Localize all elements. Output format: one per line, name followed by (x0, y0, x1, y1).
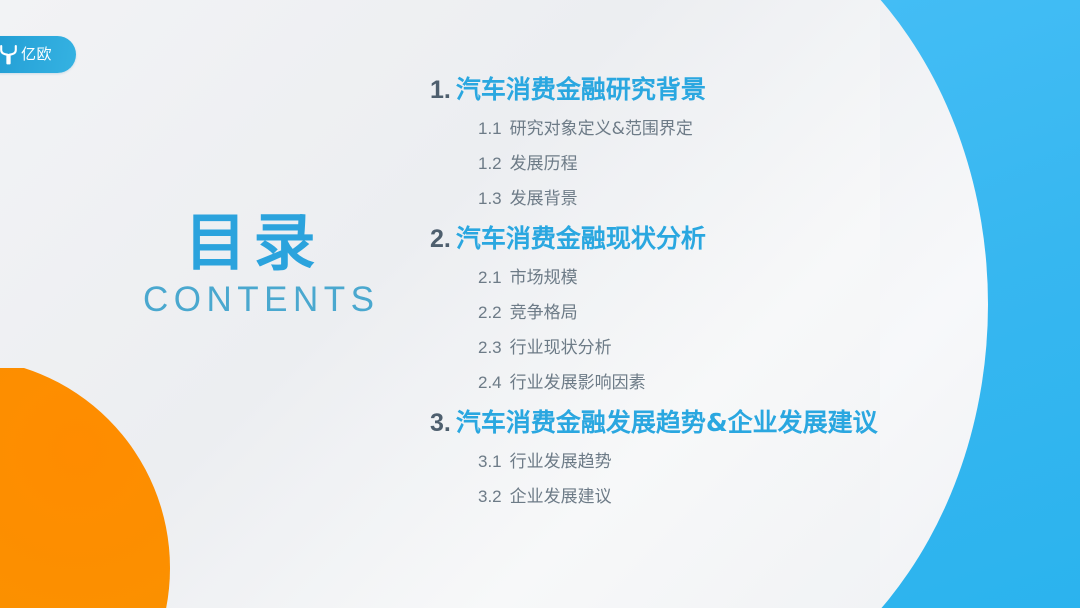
toc-subitem[interactable]: 3.1 行业发展趋势 (478, 445, 970, 480)
toc-section-title: 汽车消费金融现状分析 (456, 226, 706, 251)
yiou-antler-icon (0, 44, 18, 65)
table-of-contents: 1. 汽车消费金融研究背景 1.1 研究对象定义&范围界定 1.2 发展历程 1… (430, 70, 970, 517)
toc-section-heading[interactable]: 3. 汽车消费金融发展趋势&企业发展建议 (430, 403, 970, 445)
toc-subitem[interactable]: 2.1 市场规模 (478, 261, 970, 296)
toc-subitem-number: 2.2 (478, 304, 502, 321)
toc-section: 2. 汽车消费金融现状分析 2.1 市场规模 2.2 竞争格局 2.3 行业现状… (430, 219, 970, 401)
toc-subitem-label: 市场规模 (510, 270, 578, 287)
page-title-en: CONTENTS (138, 282, 362, 319)
toc-subitem-list: 3.1 行业发展趋势 3.2 企业发展建议 (430, 445, 970, 515)
brand-logo: 亿欧 (0, 36, 76, 73)
page-title-block: 目录 CONTENTS (138, 212, 362, 319)
toc-section-number: 2. (430, 227, 451, 252)
toc-subitem-list: 2.1 市场规模 2.2 竞争格局 2.3 行业现状分析 2.4 行业发展影响因… (430, 261, 970, 401)
toc-section: 3. 汽车消费金融发展趋势&企业发展建议 3.1 行业发展趋势 3.2 企业发展… (430, 403, 970, 515)
toc-subitem-number: 2.1 (478, 269, 502, 286)
toc-subitem-label: 发展背景 (510, 191, 578, 208)
toc-subitem-number: 1.3 (478, 190, 502, 207)
decorative-orange-arc (0, 368, 220, 608)
contents-slide: 亿欧 目录 CONTENTS 1. 汽车消费金融研究背景 1.1 研究对象定义&… (0, 0, 1080, 608)
toc-subitem-number: 3.2 (478, 488, 502, 505)
toc-subitem-number: 1.1 (478, 120, 502, 137)
toc-subitem[interactable]: 2.4 行业发展影响因素 (478, 366, 970, 401)
toc-section-title: 汽车消费金融研究背景 (456, 77, 706, 102)
decorative-orange-fill (0, 368, 170, 608)
toc-section-number: 1. (430, 78, 451, 103)
brand-logo-text: 亿欧 (21, 47, 52, 62)
toc-section-heading[interactable]: 2. 汽车消费金融现状分析 (430, 219, 970, 261)
toc-subitem[interactable]: 1.1 研究对象定义&范围界定 (478, 112, 970, 147)
toc-subitem-label: 企业发展建议 (510, 489, 612, 506)
page-title-cn: 目录 (138, 212, 362, 274)
toc-section-title: 汽车消费金融发展趋势&企业发展建议 (456, 410, 878, 435)
toc-section: 1. 汽车消费金融研究背景 1.1 研究对象定义&范围界定 1.2 发展历程 1… (430, 70, 970, 217)
toc-subitem-number: 1.2 (478, 155, 502, 172)
toc-subitem-label: 竞争格局 (510, 305, 578, 322)
toc-section-number: 3. (430, 411, 451, 436)
toc-subitem-label: 行业现状分析 (510, 340, 612, 357)
toc-subitem-label: 发展历程 (510, 156, 578, 173)
toc-subitem[interactable]: 2.2 竞争格局 (478, 296, 970, 331)
toc-subitem[interactable]: 2.3 行业现状分析 (478, 331, 970, 366)
toc-subitem-label: 研究对象定义&范围界定 (510, 121, 693, 138)
toc-subitem-number: 3.1 (478, 453, 502, 470)
toc-subitem-number: 2.4 (478, 374, 502, 391)
toc-subitem[interactable]: 1.2 发展历程 (478, 147, 970, 182)
toc-subitem-label: 行业发展趋势 (510, 454, 612, 471)
toc-subitem[interactable]: 1.3 发展背景 (478, 182, 970, 217)
toc-section-heading[interactable]: 1. 汽车消费金融研究背景 (430, 70, 970, 112)
toc-subitem-number: 2.3 (478, 339, 502, 356)
toc-subitem-list: 1.1 研究对象定义&范围界定 1.2 发展历程 1.3 发展背景 (430, 112, 970, 217)
toc-subitem-label: 行业发展影响因素 (510, 375, 646, 392)
toc-subitem[interactable]: 3.2 企业发展建议 (478, 480, 970, 515)
